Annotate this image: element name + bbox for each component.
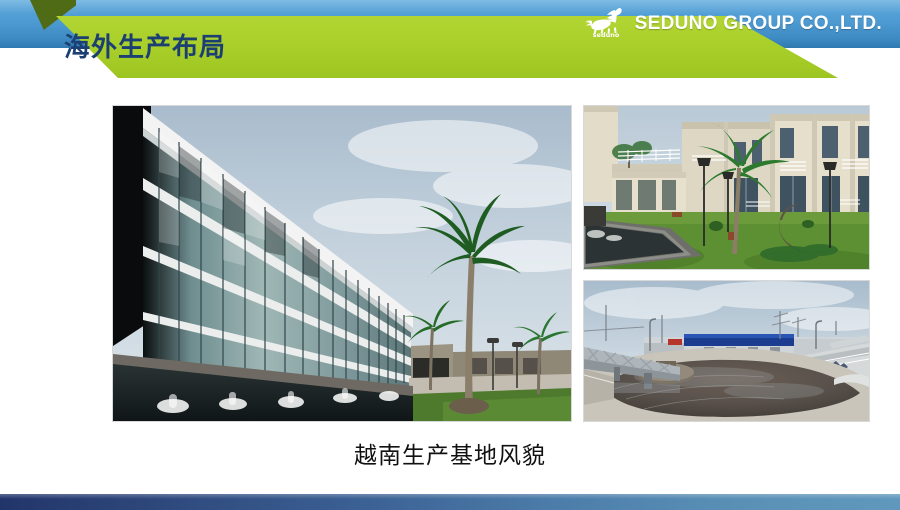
page-title: 海外生产布局 (64, 27, 226, 64)
brand-name: SEDUNO GROUP CO.,LTD. (635, 13, 882, 35)
photo-caption: 越南生产基地风貌 (0, 436, 900, 470)
footer-highlight (0, 494, 900, 499)
brand-logo: seduno SEDUNO GROUP CO.,LTD. (585, 6, 882, 42)
wastewater-treatment-plant (583, 280, 870, 422)
dormitory-courtyard (583, 105, 870, 270)
logo-wordmark: seduno (592, 31, 619, 39)
slide: 海外生产布局 seduno SEDUNO GR (0, 0, 900, 510)
footer-bar (0, 494, 900, 510)
pegasus-winged-horse-icon: seduno (585, 7, 627, 41)
main-factory-office-building (112, 105, 572, 422)
